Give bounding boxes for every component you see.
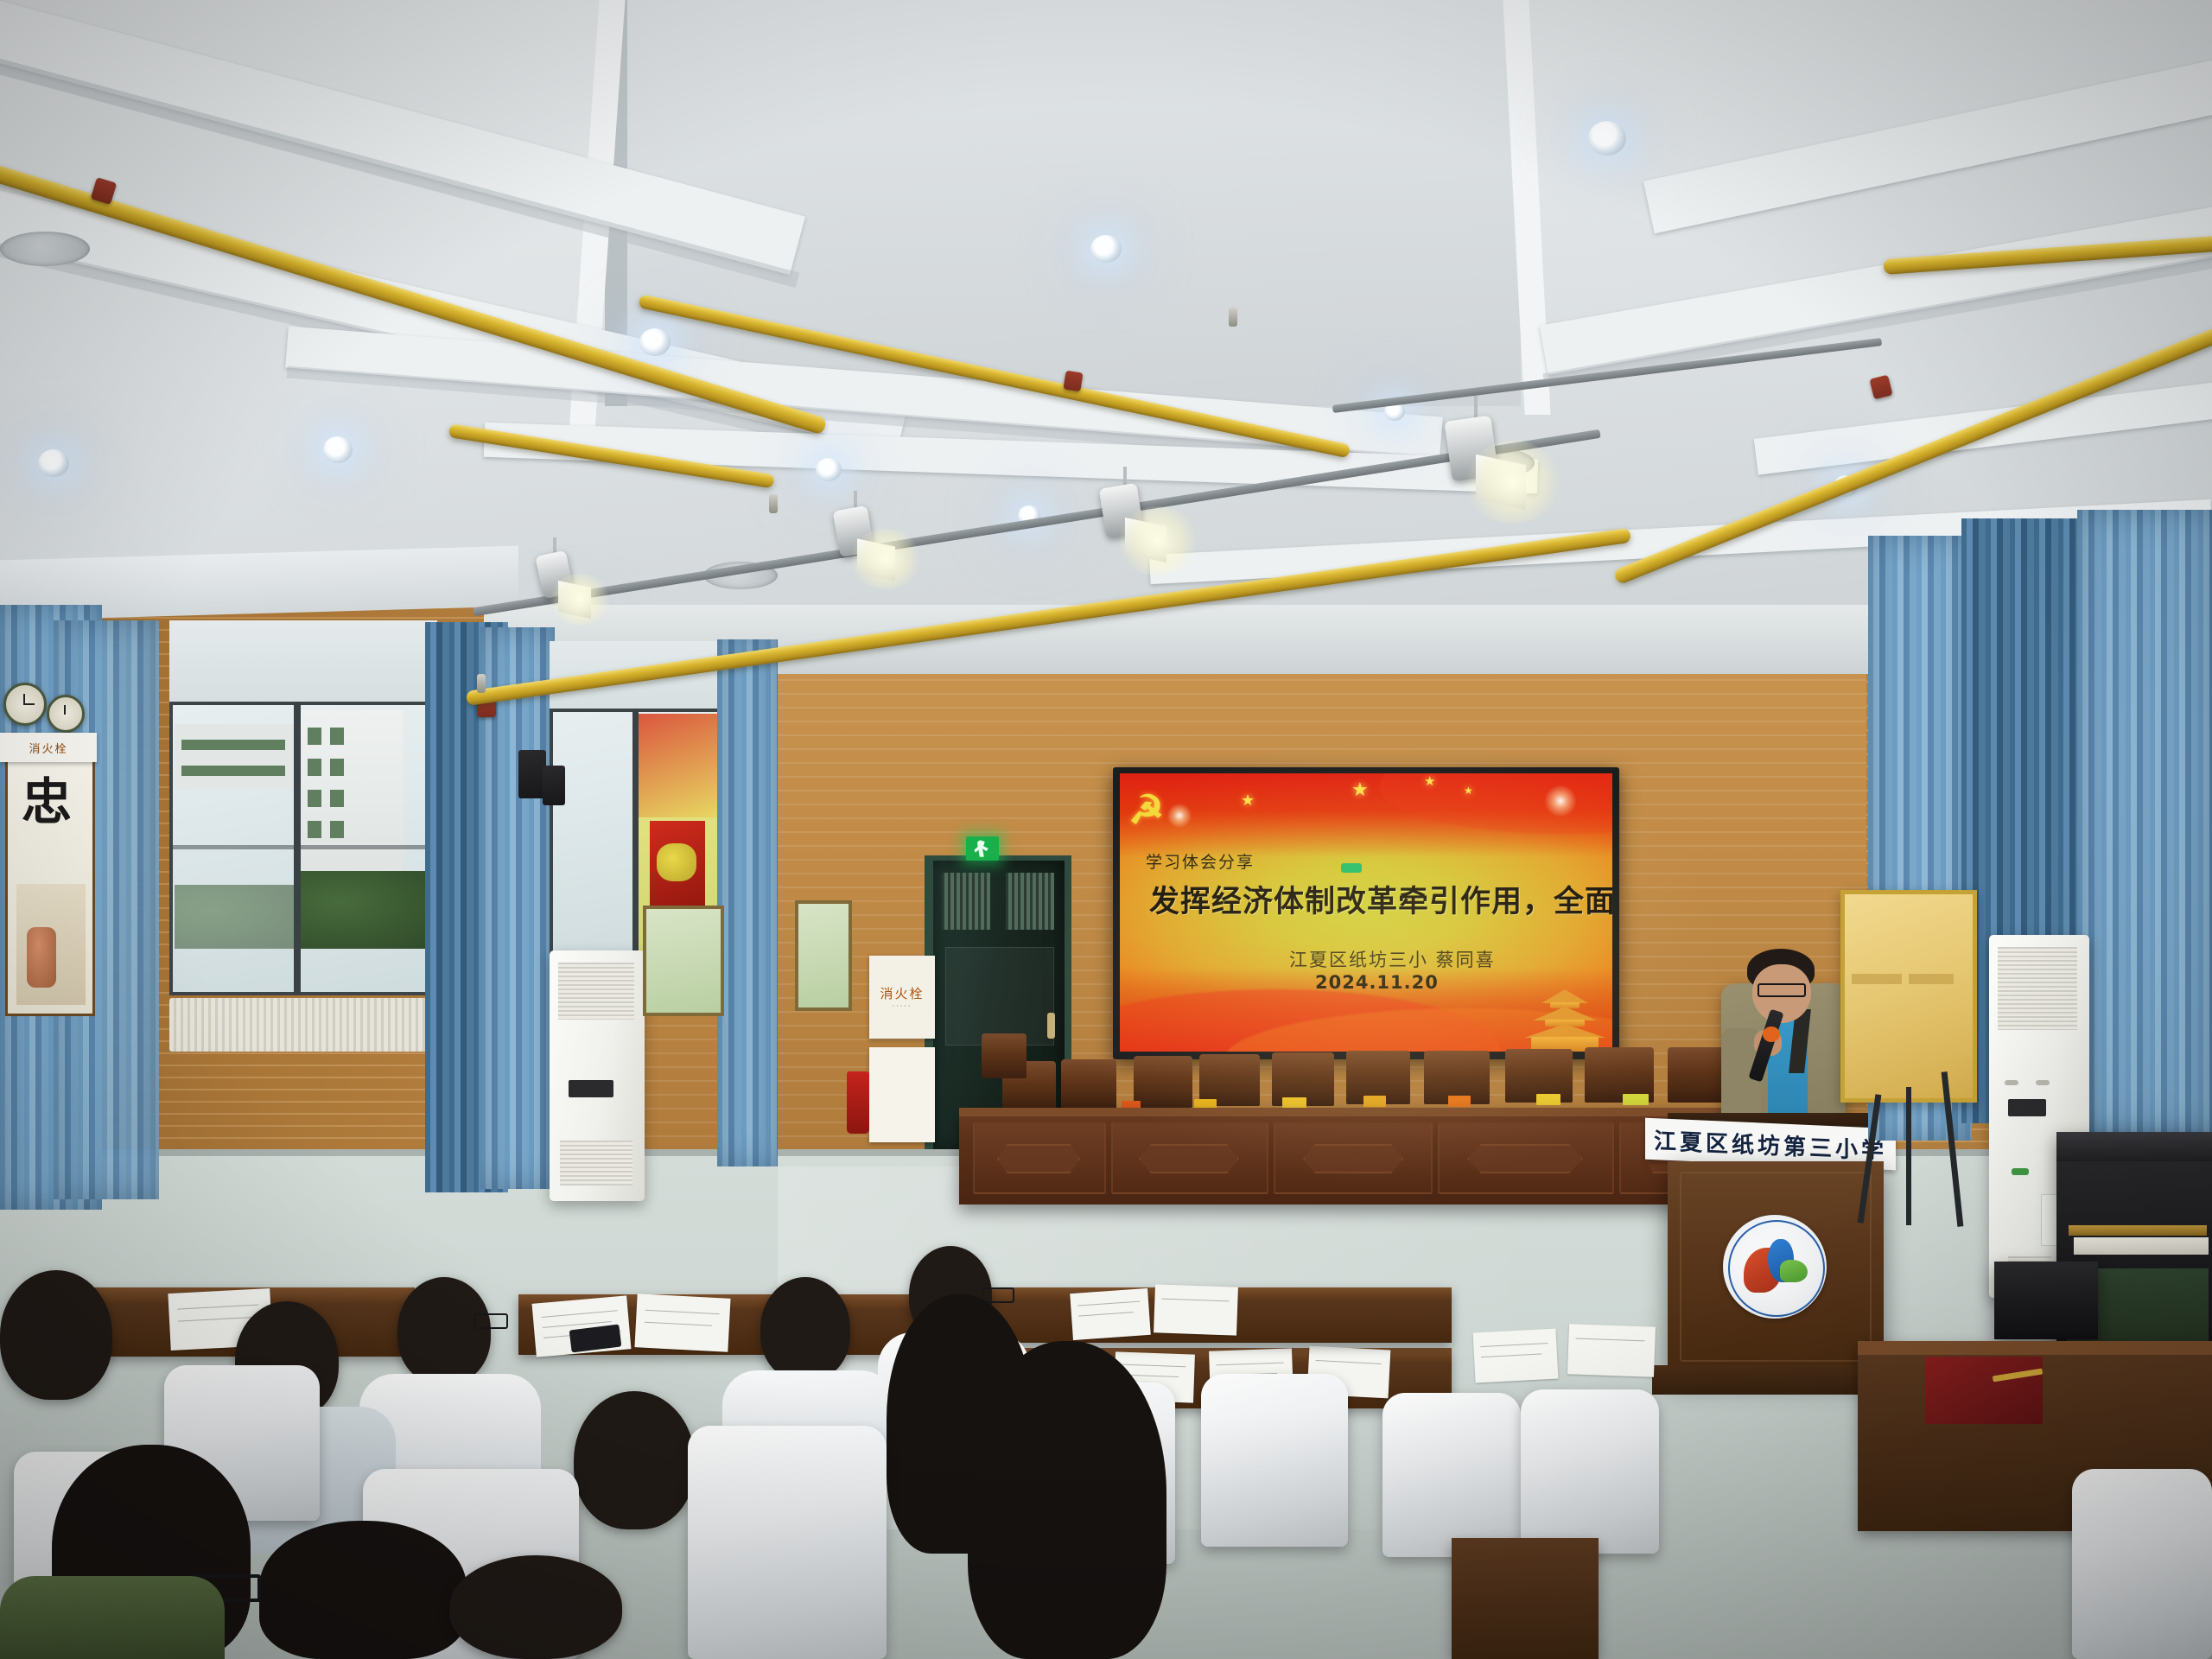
- spot-glow: [1465, 441, 1560, 524]
- audience-head: [397, 1277, 491, 1384]
- nameplate: [1363, 1096, 1386, 1107]
- chair-cover: [688, 1426, 887, 1659]
- led-title: 发挥经济体制改革牵引作用，全面推进各领域的改革: [1149, 877, 1612, 921]
- led-screen[interactable]: ☭ ★ ★ ★ ★ 学习体会分享 发挥经济体制改革牵引作用，全面推进各领域的改革…: [1120, 773, 1612, 1052]
- star-icon: ★: [1241, 792, 1255, 808]
- sprinkler-head: [477, 674, 486, 693]
- paper-sheet: [634, 1294, 730, 1352]
- piano-bench: [1994, 1262, 2098, 1339]
- paper-sheet: [1473, 1329, 1559, 1383]
- nameplate: [1536, 1094, 1560, 1105]
- side-chair[interactable]: [982, 1033, 1027, 1078]
- downlight: [1090, 235, 1122, 263]
- paper-sheet: [1154, 1284, 1238, 1335]
- easel-leg: [1906, 1087, 1911, 1225]
- sparkle-icon: [1165, 801, 1194, 830]
- audience-head: [760, 1277, 850, 1381]
- downlight: [816, 458, 842, 481]
- led-subtitle: 江夏区纸坊三小 蔡同喜: [1289, 946, 1496, 972]
- calligraphy-poster: 忠: [5, 752, 95, 1016]
- school-crest-logo: [1723, 1215, 1827, 1319]
- audience-head: [574, 1391, 695, 1529]
- wall-clock-left: [3, 683, 47, 726]
- nameplate: [1623, 1094, 1649, 1105]
- pagoda-graphic: [1522, 989, 1605, 1052]
- left-wall-notice: 消火栓: [0, 733, 97, 762]
- spot-glow: [550, 574, 610, 626]
- stage-chair[interactable]: [1134, 1056, 1192, 1108]
- star-icon: ★: [1424, 775, 1435, 788]
- mixer-table: [1452, 1538, 1599, 1659]
- star-icon: ★: [1351, 780, 1369, 799]
- nameplate: [1448, 1096, 1471, 1107]
- window-1[interactable]: [169, 702, 439, 995]
- stage-chair[interactable]: [1061, 1059, 1116, 1109]
- red-banner-left: [650, 821, 705, 907]
- auditorium-photo: 忠 消火栓 消火栓 ·····: [0, 0, 2212, 1659]
- podium-sign-text: 江夏区纸坊第三小学: [1654, 1123, 1887, 1166]
- air-conditioner-left: [550, 950, 645, 1201]
- radiator-left: [169, 998, 437, 1052]
- party-emblem-icon: ☭: [1128, 792, 1164, 828]
- easel-board: [1840, 890, 1977, 1103]
- audience-shoulders-foreground: [0, 1576, 225, 1659]
- downlight: [38, 449, 69, 477]
- speaker-glasses: [1758, 983, 1806, 997]
- door-grille: [1006, 873, 1054, 930]
- poster-character: 忠: [22, 761, 72, 834]
- audience-head-long-hair: [968, 1341, 1166, 1659]
- podium: [1668, 1161, 1884, 1377]
- document-folder: [1925, 1357, 2043, 1424]
- stage-chair[interactable]: [1199, 1054, 1260, 1106]
- notice-board-left: [643, 906, 724, 1016]
- downlight: [323, 436, 353, 463]
- running-man-icon: [973, 840, 993, 857]
- paper-sheet: [1567, 1324, 1656, 1376]
- chair-cover: [1382, 1393, 1521, 1557]
- curtain-left-5: [717, 639, 778, 1166]
- microphone-head: [1763, 1027, 1780, 1042]
- audience-glasses: [474, 1313, 508, 1329]
- spot-glow: [850, 529, 921, 589]
- pipe-joint: [1063, 371, 1083, 392]
- wall-speaker-left-2: [543, 766, 565, 805]
- led-accent-bar: [1341, 863, 1362, 873]
- sprinkler-head: [769, 494, 778, 513]
- chair-cover: [1521, 1389, 1659, 1554]
- led-label: 学习体会分享: [1146, 849, 1255, 873]
- chair-cover: [1201, 1374, 1348, 1547]
- sparkle-icon: [1541, 782, 1580, 820]
- audience-head-foreground: [0, 1270, 112, 1400]
- exit-sign: [966, 836, 999, 861]
- stage-conference-table: [959, 1108, 1745, 1205]
- downlight: [1588, 121, 1626, 156]
- fire-notice-sign: [869, 1047, 935, 1142]
- notice-board-back: [795, 900, 852, 1011]
- fire-hydrant-sign: 消火栓 ·····: [869, 956, 935, 1039]
- audience-head-foreground: [259, 1521, 467, 1659]
- door-grille: [942, 873, 990, 930]
- chair-cover-right: [2072, 1469, 2212, 1659]
- fire-extinguisher: [847, 1071, 869, 1134]
- audience-head-foreground: [449, 1555, 622, 1659]
- downlight: [639, 328, 671, 356]
- wall-clock-left-2: [47, 695, 85, 733]
- led-date: 2024.11.20: [1315, 972, 1439, 993]
- curtain-right-3: [2077, 510, 2212, 1132]
- ceiling-vent: [0, 232, 90, 266]
- star-icon: ★: [1464, 785, 1473, 796]
- sprinkler-head: [1229, 308, 1237, 327]
- window-transom-1: [169, 620, 437, 707]
- paper-sheet: [1070, 1288, 1151, 1340]
- spot-glow: [1118, 506, 1198, 575]
